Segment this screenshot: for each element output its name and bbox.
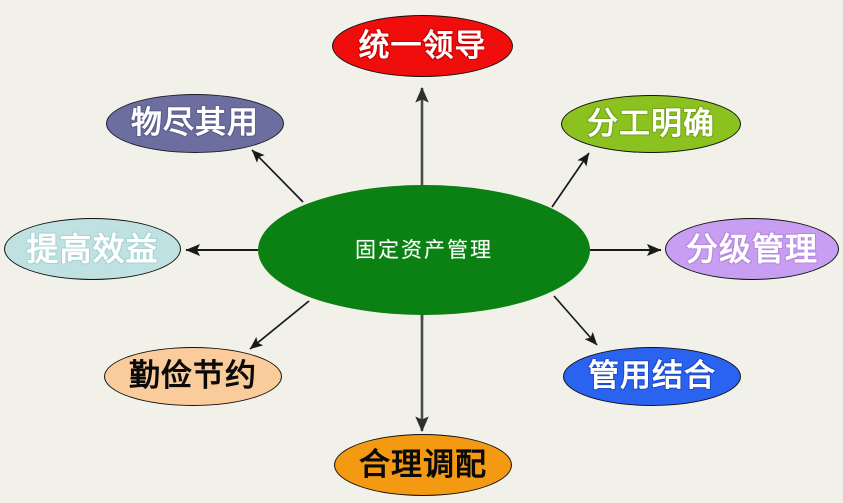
connector-center-to-bottom-left bbox=[250, 301, 309, 349]
node-right-label: 分级管理 bbox=[686, 233, 818, 265]
node-left-label: 提高效益 bbox=[26, 233, 158, 265]
node-make-best-use-of-everything[interactable]: 物尽其用 bbox=[106, 94, 284, 153]
node-bottom-label: 合理调配 bbox=[359, 450, 487, 481]
node-rational-allocation[interactable]: 合理调配 bbox=[334, 434, 512, 496]
connector-center-to-bottom-right bbox=[554, 296, 597, 345]
node-bottom-left-label: 勤俭节约 bbox=[129, 361, 257, 392]
node-top-right-label: 分工明确 bbox=[587, 109, 715, 140]
connector-center-to-top-left bbox=[252, 150, 303, 202]
node-diligence-and-thrift[interactable]: 勤俭节约 bbox=[104, 347, 282, 406]
node-clear-division-of-labor[interactable]: 分工明确 bbox=[561, 95, 741, 153]
node-center-fixed-asset-management[interactable]: 固定资产管理 bbox=[258, 185, 590, 315]
node-unified-leadership[interactable]: 统一领导 bbox=[332, 15, 513, 77]
node-tiered-management[interactable]: 分级管理 bbox=[665, 218, 839, 280]
node-center-label: 固定资产管理 bbox=[355, 240, 493, 261]
node-manage-and-use-combined[interactable]: 管用结合 bbox=[563, 347, 741, 406]
node-bottom-right-label: 管用结合 bbox=[588, 361, 716, 392]
diagram-canvas: 固定资产管理 统一领导 分工明确 分级管理 管用结合 合理调配 勤俭节约 提高效… bbox=[0, 0, 843, 503]
connector-center-to-top-right bbox=[552, 153, 589, 207]
node-improve-efficiency[interactable]: 提高效益 bbox=[4, 218, 181, 280]
node-top-label: 统一领导 bbox=[359, 31, 487, 62]
node-top-left-label: 物尽其用 bbox=[131, 108, 259, 139]
